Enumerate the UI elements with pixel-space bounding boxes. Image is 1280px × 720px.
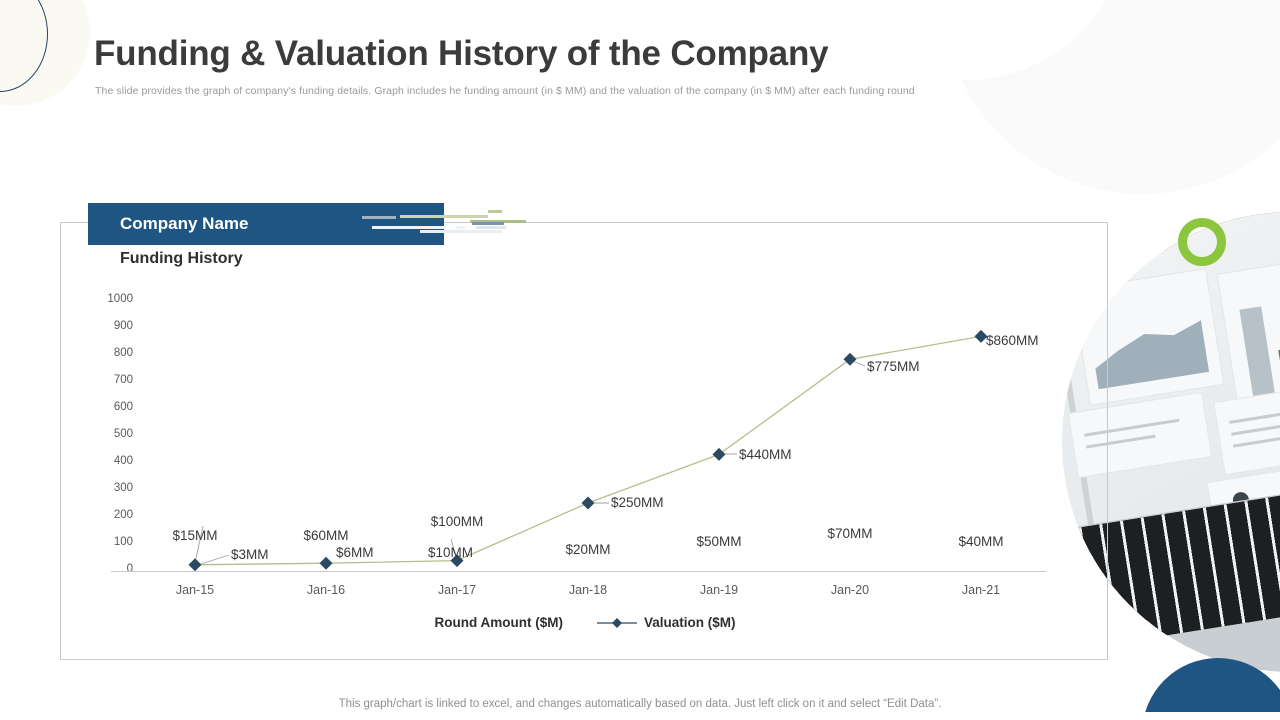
valuation-label-jan-15: $3MM <box>231 547 269 562</box>
x-tick-label-jan-15: Jan-15 <box>140 583 250 597</box>
legend-label-valuation: Valuation ($M) <box>644 615 736 630</box>
leader-line-3mm <box>198 555 229 565</box>
marker-jan-15 <box>189 558 202 571</box>
x-tick-label-jan-16: Jan-16 <box>271 583 381 597</box>
x-tick-label-jan-19: Jan-19 <box>664 583 774 597</box>
x-tick-label-jan-21: Jan-21 <box>926 583 1036 597</box>
dashboard-bar-1 <box>1239 306 1275 400</box>
decorative-line <box>456 226 466 229</box>
marker-jan-20 <box>844 353 857 366</box>
legend-diamond-marker-icon <box>597 617 637 629</box>
marker-jan-18 <box>582 497 595 510</box>
decorative-line <box>476 226 506 229</box>
x-tick-label-jan-17: Jan-17 <box>402 583 512 597</box>
valuation-label-jan-16: $6MM <box>336 545 374 560</box>
leader-line-775mm <box>853 361 865 366</box>
legend-label-round-amount: Round Amount ($M) <box>435 615 563 630</box>
page-title: Funding & Valuation History of the Compa… <box>94 34 828 74</box>
marker-jan-16 <box>320 557 333 570</box>
round-amount-label-jan-19: $50MM <box>664 534 774 549</box>
chart-panel: 1000 900 800 700 600 500 400 300 200 100… <box>60 222 1108 660</box>
decorative-line <box>488 210 502 213</box>
marker-jan-19 <box>713 448 726 461</box>
page-subtitle: The slide provides the graph of company'… <box>95 85 915 97</box>
blue-semicircle-mask <box>1100 712 1280 720</box>
round-amount-label-jan-17: $100MM <box>402 514 512 529</box>
valuation-label-jan-17: $10MM <box>428 545 473 560</box>
round-amount-label-jan-20: $70MM <box>795 526 905 541</box>
footer-note: This graph/chart is linked to excel, and… <box>0 698 1280 710</box>
decorative-line <box>372 226 446 229</box>
decorative-line <box>472 222 504 225</box>
slide-root: Funding & Valuation History of the Compa… <box>0 0 1280 720</box>
valuation-label-jan-20: $775MM <box>867 359 920 374</box>
decorative-line <box>400 215 488 218</box>
decorative-line <box>362 216 396 219</box>
dashboard-text-line <box>1229 403 1280 423</box>
decorative-line <box>420 230 502 233</box>
legend-item-valuation[interactable]: Valuation ($M) <box>597 615 736 630</box>
round-amount-label-jan-18: $20MM <box>533 542 643 557</box>
green-ring-accent <box>1178 218 1226 266</box>
legend-item-round-amount[interactable]: Round Amount ($M) <box>435 615 563 630</box>
round-amount-label-jan-16: $60MM <box>271 528 381 543</box>
company-name-label: Company Name <box>120 214 248 234</box>
chart-canvas: 1000 900 800 700 600 500 400 300 200 100… <box>61 223 1109 661</box>
valuation-label-jan-18: $250MM <box>611 495 664 510</box>
x-tick-label-jan-20: Jan-20 <box>795 583 905 597</box>
valuation-label-jan-21: $860MM <box>986 333 1039 348</box>
chart-legend: Round Amount ($M) Valuation ($M) <box>61 615 1109 630</box>
x-tick-label-jan-18: Jan-18 <box>533 583 643 597</box>
round-amount-label-jan-15: $15MM <box>140 528 250 543</box>
round-amount-label-jan-21: $40MM <box>926 534 1036 549</box>
valuation-label-jan-19: $440MM <box>739 447 792 462</box>
chart-heading-label: Funding History <box>120 250 243 268</box>
